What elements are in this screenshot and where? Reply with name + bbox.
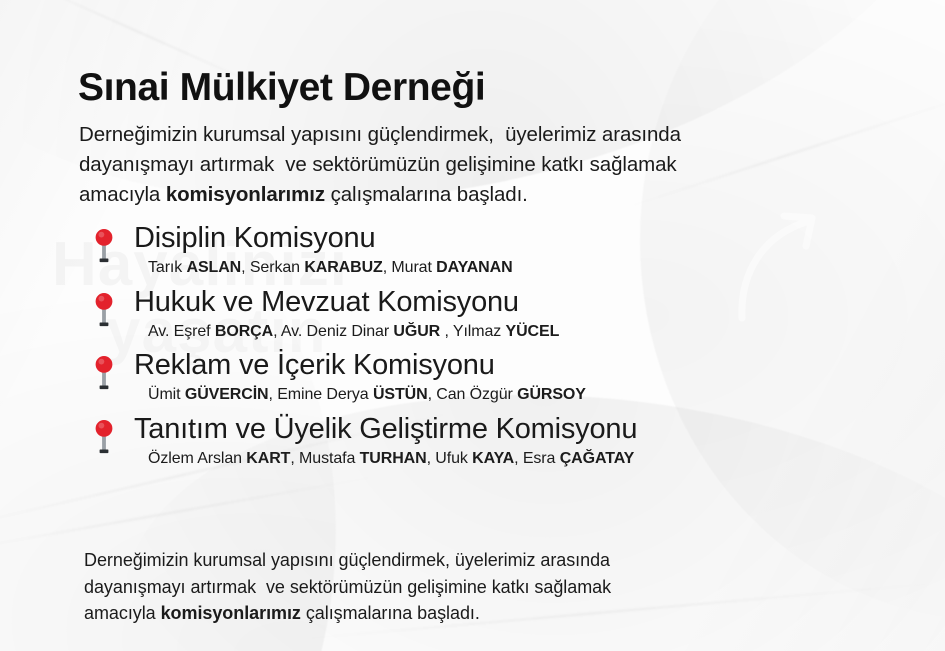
member-surname: GÜRSOY — [517, 386, 586, 403]
intro-line-3-emphasis: komisyonlarımız — [166, 183, 325, 206]
member-surname: BORÇA — [215, 323, 273, 340]
commission-title: Tanıtım ve Üyelik Geliştirme Komisyonu — [134, 413, 637, 446]
outro-line-1: Derneğimizin kurumsal yapısını güçlendir… — [84, 547, 784, 574]
member-surname: YÜCEL — [506, 323, 560, 340]
member-separator: , — [273, 323, 281, 340]
member-first-name: Mustafa — [299, 450, 360, 467]
member-surname: DAYANAN — [436, 259, 512, 276]
outro-paragraph: Derneğimizin kurumsal yapısını güçlendir… — [84, 547, 784, 627]
member-separator: , — [290, 450, 299, 467]
commission-members: Av. Eşref BORÇA, Av. Deniz Dinar UĞUR , … — [148, 323, 559, 341]
commission-members: Özlem Arslan KART, Mustafa TURHAN, Ufuk … — [148, 450, 634, 468]
member-first-name: Av. Deniz Dinar — [281, 323, 394, 340]
map-pin-icon — [92, 419, 116, 457]
intro-line-3-prefix: amacıyla — [79, 183, 166, 206]
commission-title: Hukuk ve Mevzuat Komisyonu — [134, 286, 519, 319]
member-surname: ÇAĞATAY — [560, 450, 635, 467]
member-surname: ÜSTÜN — [373, 386, 428, 403]
member-surname: KAYA — [472, 450, 514, 467]
member-separator: , — [269, 386, 278, 403]
member-first-name: Esra — [523, 450, 560, 467]
member-separator: , — [241, 259, 250, 276]
commission-title: Disiplin Komisyonu — [134, 222, 375, 255]
outro-line-3-suffix: çalışmalarına başladı. — [301, 603, 480, 623]
commission-title: Reklam ve İçerik Komisyonu — [134, 349, 495, 382]
member-surname: ASLAN — [187, 259, 242, 276]
map-pin-icon — [92, 355, 116, 393]
member-first-name: Av. Eşref — [148, 323, 215, 340]
commission-row: Reklam ve İçerik KomisyonuÜmit GÜVERCİN,… — [92, 353, 892, 417]
commission-row: Hukuk ve Mevzuat KomisyonuAv. Eşref BORÇ… — [92, 290, 892, 354]
member-separator: , — [428, 386, 437, 403]
member-first-name: Ümit — [148, 386, 185, 403]
commission-row: Tanıtım ve Üyelik Geliştirme KomisyonuÖz… — [92, 417, 892, 481]
member-surname: TURHAN — [360, 450, 427, 467]
member-surname: UĞUR — [393, 323, 444, 340]
member-first-name: Murat — [391, 259, 436, 276]
commission-members: Ümit GÜVERCİN, Emine Derya ÜSTÜN, Can Öz… — [148, 386, 586, 404]
intro-paragraph: Derneğimizin kurumsal yapısını güçlendir… — [79, 120, 839, 210]
member-first-name: Serkan — [250, 259, 304, 276]
member-separator: , — [427, 450, 436, 467]
commission-members: Tarık ASLAN, Serkan KARABUZ, Murat DAYAN… — [148, 259, 513, 277]
map-pin-icon — [92, 292, 116, 330]
member-first-name: Can Özgür — [436, 386, 517, 403]
member-surname: GÜVERCİN — [185, 386, 269, 403]
member-surname: KART — [246, 450, 290, 467]
member-first-name: Ufuk — [435, 450, 472, 467]
outro-line-3-prefix: amacıyla — [84, 603, 161, 623]
page-title: Sınai Mülkiyet Derneği — [78, 66, 485, 110]
poster-canvas: Hayalinizi yaşatın Sınai Mülkiyet Derneğ… — [0, 0, 945, 651]
background-streak — [0, 476, 377, 550]
member-surname: KARABUZ — [304, 259, 382, 276]
intro-line-1: Derneğimizin kurumsal yapısını güçlendir… — [79, 120, 839, 150]
outro-line-2: dayanışmayı artırmak ve sektörümüzün gel… — [84, 574, 784, 601]
member-separator: , — [444, 323, 452, 340]
intro-line-3-suffix: çalışmalarına başladı. — [325, 183, 528, 206]
intro-line-2: dayanışmayı artırmak ve sektörümüzün gel… — [79, 150, 839, 180]
member-separator: , — [514, 450, 523, 467]
commission-list: Disiplin KomisyonuTarık ASLAN, Serkan KA… — [92, 226, 892, 480]
member-first-name: Özlem Arslan — [148, 450, 246, 467]
outro-line-3-emphasis: komisyonlarımız — [161, 603, 301, 623]
map-pin-icon — [92, 228, 116, 266]
member-first-name: Emine Derya — [277, 386, 373, 403]
member-first-name: Tarık — [148, 259, 187, 276]
member-first-name: Yılmaz — [453, 323, 506, 340]
commission-row: Disiplin KomisyonuTarık ASLAN, Serkan KA… — [92, 226, 892, 290]
